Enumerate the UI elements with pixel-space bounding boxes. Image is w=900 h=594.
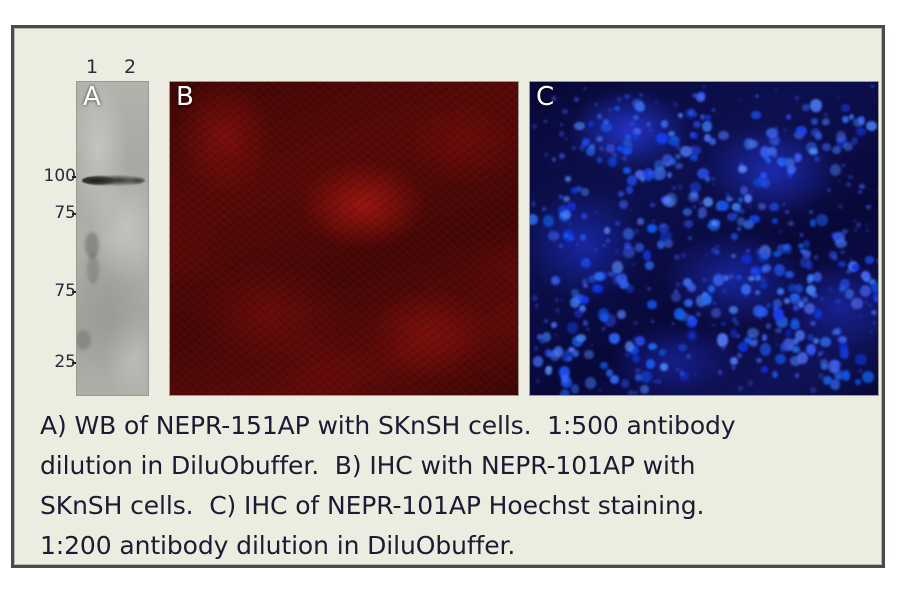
panel-b-ihc-red: B — [169, 81, 519, 396]
panel-a-western-blot: A — [76, 81, 149, 396]
panel-c-ihc-hoechst: C — [529, 81, 879, 396]
figure-caption: A) WB of NEPR-151AP with SKnSH cells. 1:… — [40, 406, 860, 566]
mw-marker-75-lower: 75 — [24, 281, 76, 301]
mw-marker-75-upper: 75 — [24, 203, 76, 223]
blot-lane-label-1: 1 — [86, 56, 98, 78]
blot-mw-ladder: 100 75 75 25 — [24, 78, 76, 398]
ihc-red-texture — [170, 82, 518, 395]
panel-letter-b: B — [176, 84, 194, 111]
mw-marker-25: 25 — [24, 352, 76, 372]
caption-line-1: A) WB of NEPR-151AP with SKnSH cells. 1:… — [40, 406, 860, 446]
panel-letter-c: C — [536, 84, 554, 111]
hoechst-nuclei-layer — [530, 82, 878, 395]
figure-image: 1 2 100 75 75 25 A B — [0, 0, 900, 594]
figure-frame: 1 2 100 75 75 25 A B — [11, 25, 885, 568]
blot-smudge-lower — [87, 254, 99, 284]
blot-lane-label-2: 2 — [124, 56, 136, 78]
panel-letter-a: A — [83, 84, 101, 111]
blot-band-100kda — [82, 175, 145, 186]
caption-line-3: SKnSH cells. C) IHC of NEPR-101AP Hoechs… — [40, 486, 860, 526]
caption-line-4: 1:200 antibody dilution in DiluObuffer. — [40, 526, 860, 566]
mw-marker-100: 100 — [24, 166, 76, 186]
blot-lane-labels: 1 2 — [72, 56, 162, 80]
caption-line-2: dilution in DiluObuffer. B) IHC with NEP… — [40, 446, 860, 486]
